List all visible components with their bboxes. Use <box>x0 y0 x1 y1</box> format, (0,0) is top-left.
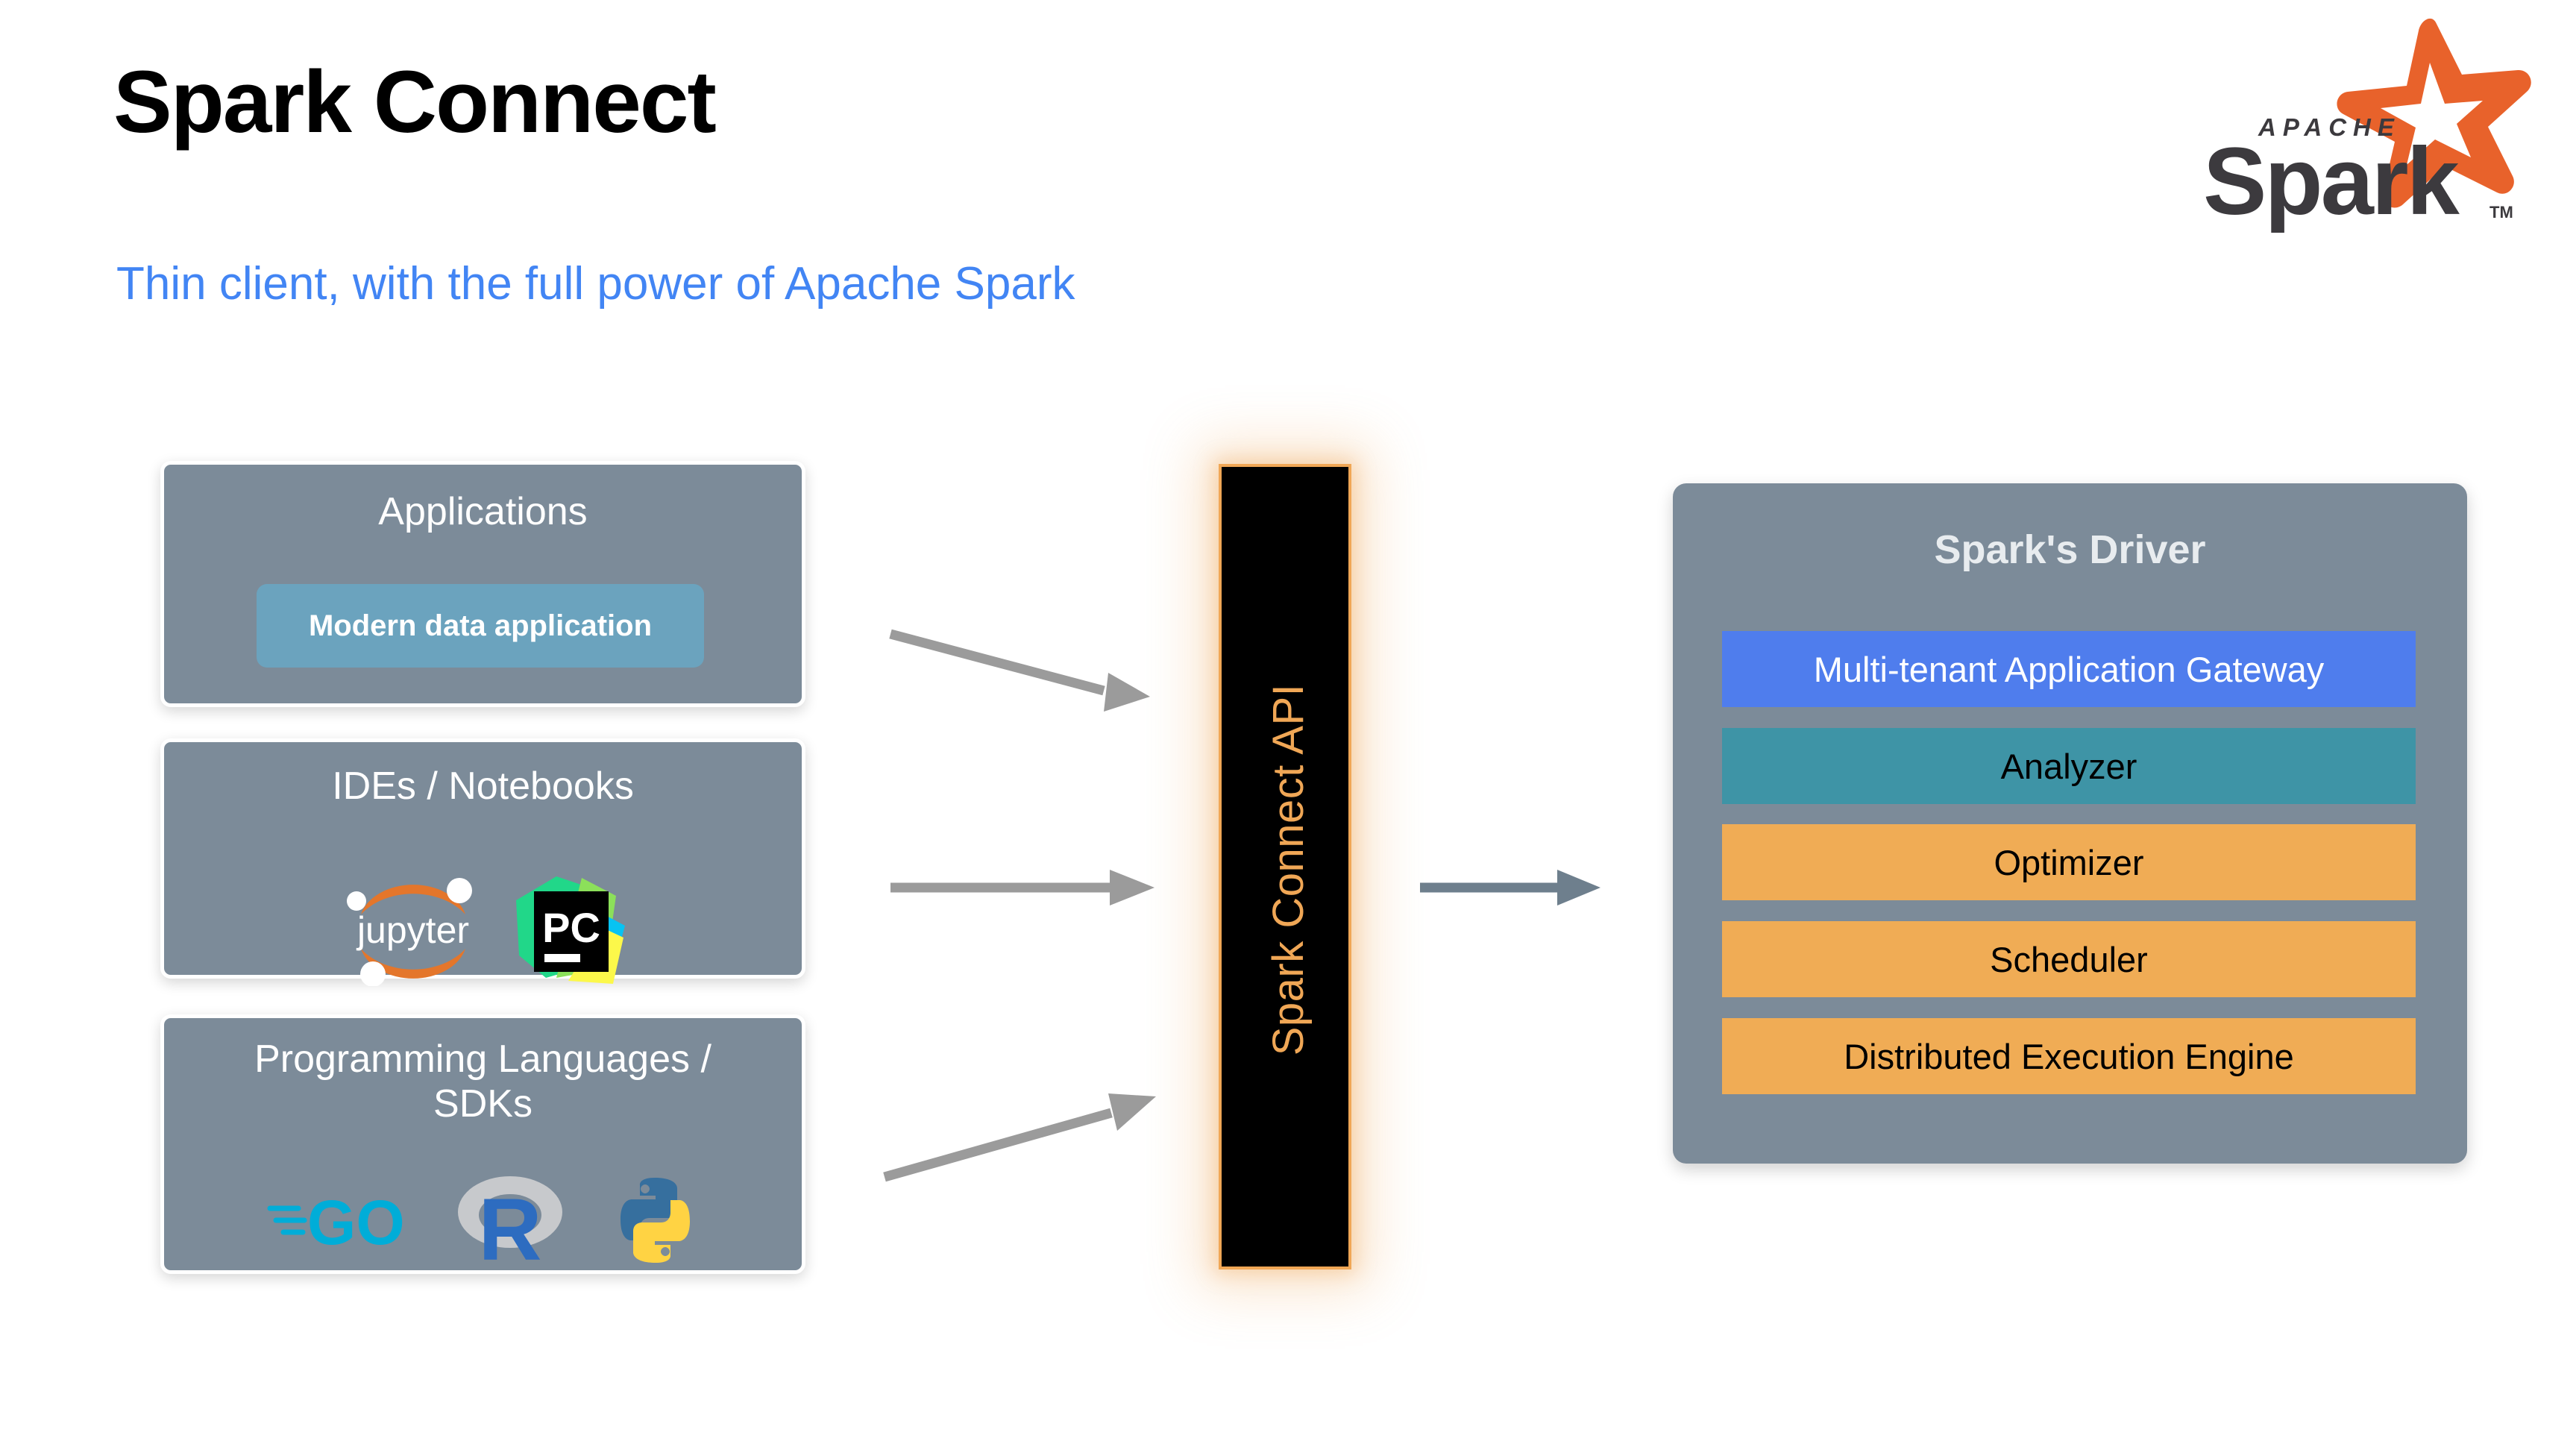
jupyter-dot-bottom-icon <box>360 961 386 986</box>
driver-bar-analyzer[interactable]: Analyzer <box>1722 728 2416 804</box>
driver-bar-multi-tenant-application-gateway[interactable]: Multi-tenant Application Gateway <box>1722 631 2416 707</box>
arrow-applications-to-api <box>888 619 1156 738</box>
spark-connect-api-bar[interactable]: Spark Connect API <box>1219 464 1351 1269</box>
spark-driver-title: Spark's Driver <box>1673 527 2467 573</box>
arrowhead-icon <box>1557 870 1600 905</box>
trademark-text: TM <box>2489 203 2513 222</box>
card-title-ides: IDEs / Notebooks <box>164 765 802 809</box>
spark-wordmark: Spark <box>2203 128 2460 233</box>
driver-bar-distributed-execution-engine[interactable]: Distributed Execution Engine <box>1722 1018 2416 1094</box>
arrowhead-icon <box>1108 1093 1156 1131</box>
client-card-programming-languages[interactable]: Programming Languages / SDKs GO <box>160 1014 805 1274</box>
spark-driver-panel: Spark's Driver Multi-tenant Application … <box>1673 483 2467 1164</box>
spark-connect-api-label: Spark Connect API <box>1222 467 1354 1272</box>
apache-spark-logo: APACHE Spark TM <box>2167 16 2540 233</box>
ide-logo-row: jupyter PC <box>164 873 802 991</box>
r-logo-svg: R <box>456 1173 568 1267</box>
python-logo <box>610 1175 701 1269</box>
jupyter-logo: jupyter <box>340 874 486 990</box>
card-title-langs-line1: Programming Languages / <box>254 1038 711 1081</box>
apache-spark-logo-svg: APACHE Spark TM <box>2167 16 2540 233</box>
arrowhead-icon <box>1104 673 1150 712</box>
card-title-langs: Programming Languages / SDKs <box>164 1038 802 1127</box>
driver-bar-optimizer[interactable]: Optimizer <box>1722 824 2416 900</box>
go-wordmark: GO <box>307 1187 405 1258</box>
language-logo-row: GO R <box>164 1173 802 1271</box>
modern-data-application-pill[interactable]: Modern data application <box>257 584 704 668</box>
arrow-langs-to-api <box>880 1044 1163 1193</box>
jupyter-wordmark: jupyter <box>355 909 468 951</box>
slide-root: Spark Connect Thin client, with the full… <box>0 0 2576 1447</box>
jupyter-dot-right-icon <box>447 878 472 903</box>
go-logo-svg: GO <box>266 1183 415 1258</box>
pycharm-logo: PC <box>513 873 626 991</box>
client-card-ides-notebooks[interactable]: IDEs / Notebooks jupyter <box>160 738 805 979</box>
arrow-ides-to-api <box>888 858 1156 917</box>
page-subtitle: Thin client, with the full power of Apac… <box>116 261 1075 307</box>
client-card-applications[interactable]: Applications Modern data application <box>160 461 805 707</box>
python-logo-svg <box>610 1175 701 1266</box>
go-speedlines-icon <box>270 1208 304 1232</box>
r-letter-text: R <box>478 1181 541 1267</box>
pycharm-underscore-icon <box>544 954 580 962</box>
arrowhead-icon <box>1110 870 1155 905</box>
go-logo: GO <box>266 1183 415 1261</box>
page-title: Spark Connect <box>113 58 715 146</box>
r-logo: R <box>456 1173 568 1271</box>
driver-bar-scheduler[interactable]: Scheduler <box>1722 921 2416 997</box>
pycharm-logo-svg: PC <box>513 873 626 987</box>
pycharm-pc-text: PC <box>542 904 600 951</box>
jupyter-dot-left-icon <box>347 891 366 911</box>
card-title-langs-line2: SDKs <box>433 1082 533 1126</box>
arrow-api-to-driver <box>1417 858 1603 917</box>
jupyter-logo-svg: jupyter <box>340 874 486 986</box>
card-title-applications: Applications <box>164 490 802 535</box>
